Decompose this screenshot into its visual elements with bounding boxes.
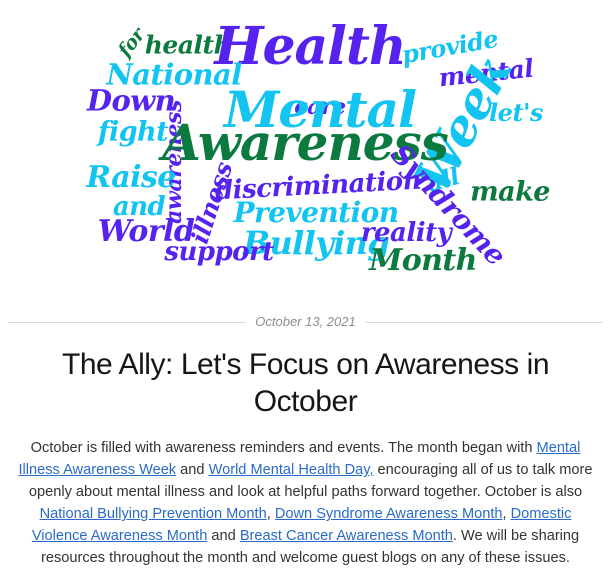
wordcloud-image: forhealthHealthprovideNationalmentalDown… bbox=[0, 0, 611, 300]
article-body: October is filled with awareness reminde… bbox=[18, 438, 594, 569]
cloud-word: make bbox=[470, 179, 550, 206]
cloud-word: Health bbox=[214, 21, 405, 73]
cloud-word: let's bbox=[489, 101, 543, 125]
wordcloud-canvas: forhealthHealthprovideNationalmentalDown… bbox=[0, 0, 611, 300]
cloud-word: Raise bbox=[86, 163, 175, 193]
cloud-word: fight bbox=[98, 119, 168, 146]
body-link[interactable]: Down Syndrome Awareness Month bbox=[275, 506, 503, 522]
body-text: and bbox=[176, 462, 208, 478]
body-link[interactable]: National Bullying Prevention Month bbox=[40, 506, 267, 522]
body-link[interactable]: Breast Cancer Awareness Month bbox=[240, 528, 453, 544]
cloud-word: Month bbox=[369, 246, 477, 276]
cloud-word: support bbox=[164, 239, 273, 265]
body-link[interactable]: World Mental Health Day, bbox=[209, 462, 374, 478]
body-text: , bbox=[503, 506, 511, 522]
body-text: October is filled with awareness reminde… bbox=[31, 440, 537, 456]
cloud-word: for bbox=[115, 25, 148, 60]
post-date: October 13, 2021 bbox=[245, 314, 365, 329]
article-meta-bar: October 13, 2021 bbox=[0, 306, 611, 340]
body-text: and bbox=[207, 528, 239, 544]
body-text: , bbox=[267, 506, 275, 522]
page-title: The Ally: Let's Focus on Awareness in Oc… bbox=[46, 346, 566, 420]
